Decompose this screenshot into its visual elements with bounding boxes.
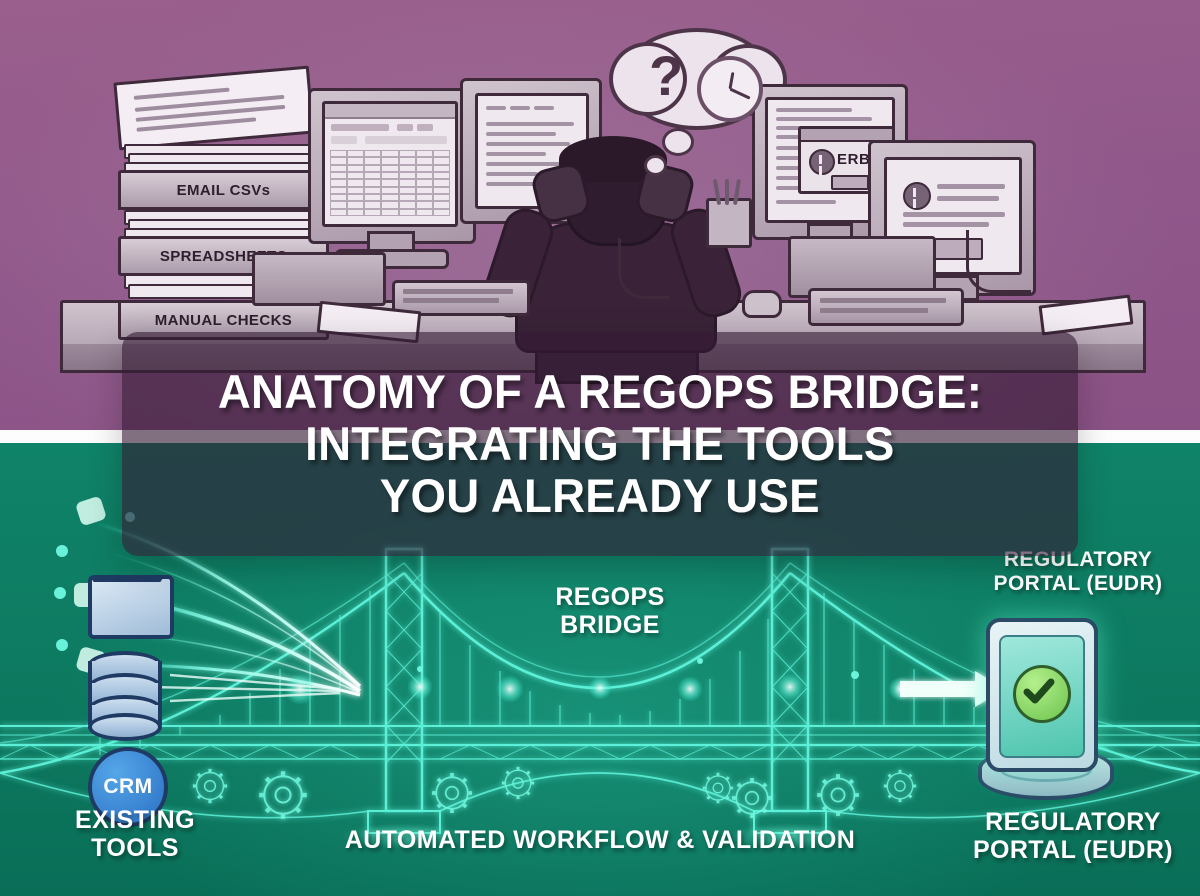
computer-mouse[interactable] [742, 290, 782, 318]
thought-bubble: ? [621, 28, 773, 130]
email-icon[interactable] [88, 575, 174, 639]
cable-1 [618, 238, 669, 299]
tray-email-csvs: EMAIL CSVs [118, 170, 329, 210]
thought-bubble-dot-2 [644, 155, 667, 176]
label-regulatory-portal-top-line2: PORTAL (EUDR) [960, 572, 1196, 596]
question-mark-icon: ? [649, 48, 683, 104]
error-dialog-ok-button[interactable] [831, 175, 869, 190]
tray-label-manual-checks: MANUAL CHECKS [155, 312, 292, 329]
regulatory-portal-device[interactable] [978, 618, 1106, 800]
thought-bubble-dot-1 [662, 128, 694, 156]
top-paper-sheet [113, 66, 314, 151]
label-regulatory-portal-bottom-line2: PORTAL (EUDR) [950, 836, 1196, 864]
crm-icon-label: CRM [103, 775, 152, 799]
warning-icon [809, 149, 835, 175]
pencil-cup [706, 198, 752, 248]
label-existing-tools: EXISTING TOOLS [40, 806, 230, 862]
label-regops-bridge: REGOPS BRIDGE [500, 583, 720, 639]
label-regops-bridge-line2: BRIDGE [500, 611, 720, 639]
computer-tower-left [252, 252, 386, 306]
clock-icon [697, 56, 763, 122]
cable-2 [966, 230, 1031, 293]
warning-icon-2 [903, 182, 931, 210]
check-circle-icon [1013, 665, 1071, 723]
phone-screen [999, 635, 1085, 758]
database-icon[interactable] [88, 651, 162, 735]
label-existing-tools-line2: TOOLS [40, 834, 230, 862]
label-regops-bridge-line1: REGOPS [500, 583, 720, 611]
spreadsheet-monitor [308, 88, 476, 244]
title-block: ANATOMY OF A REGOPS BRIDGE: INTEGRATING … [122, 332, 1078, 556]
keyboard-right[interactable] [808, 288, 964, 326]
existing-tools-icons: CRM [88, 575, 184, 790]
label-automated-workflow: AUTOMATED WORKFLOW & VALIDATION [330, 826, 870, 854]
tray-label-email-csvs: EMAIL CSVs [177, 182, 271, 199]
title-line-2: INTEGRATING THE TOOLS [305, 419, 895, 469]
title-line-3: YOU ALREADY USE [380, 471, 820, 521]
label-existing-tools-line1: EXISTING [40, 806, 230, 834]
title-line-1: ANATOMY OF A REGOPS BRIDGE: [218, 367, 982, 417]
phone-body [986, 618, 1098, 772]
label-regulatory-portal-bottom: REGULATORY PORTAL (EUDR) [950, 808, 1196, 864]
spreadsheet-screen [322, 101, 458, 227]
label-regulatory-portal-bottom-line1: REGULATORY [950, 808, 1196, 836]
infographic-canvas: EMAIL CSVs SPREADSHEETS MANUAL CHECKS [0, 0, 1200, 896]
